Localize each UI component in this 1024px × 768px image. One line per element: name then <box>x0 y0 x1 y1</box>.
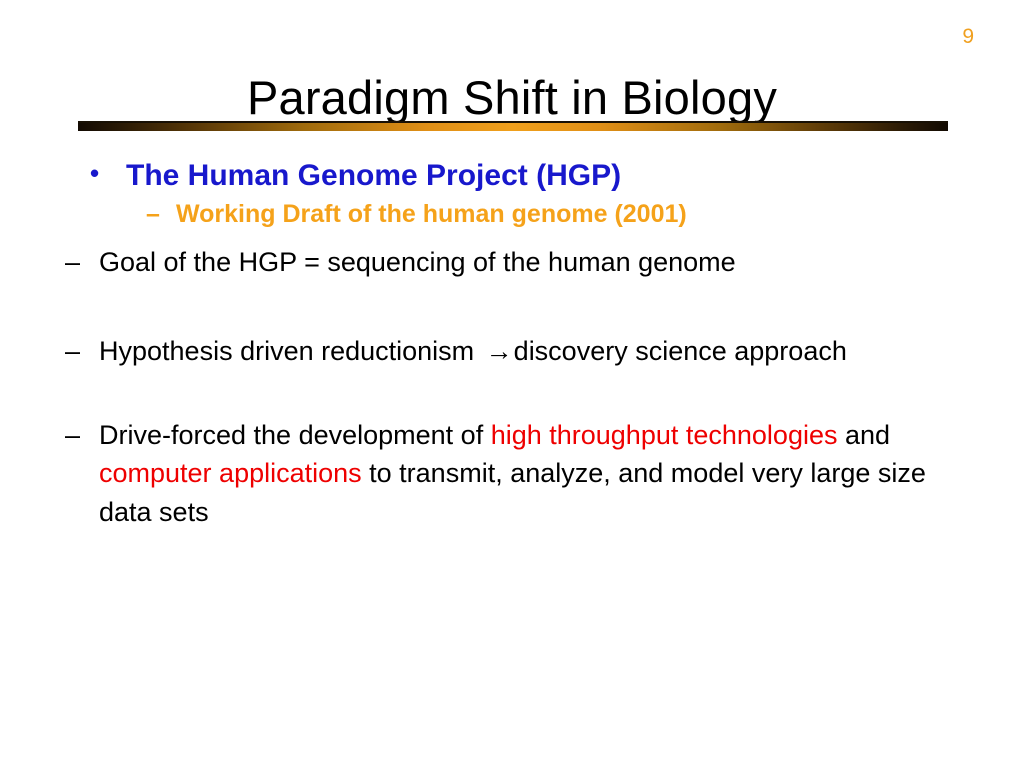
drive-forced-segment-1: Drive-forced the development of <box>99 420 491 450</box>
bullet-goal-of-hgp: – Goal of the HGP = sequencing of the hu… <box>0 243 1024 281</box>
spacer <box>0 370 1024 416</box>
bullet-level2-working-draft: – Working Draft of the human genome (200… <box>0 199 1024 229</box>
bullet-dot-icon: • <box>90 158 126 190</box>
bullet-drive-forced-development: – Drive-forced the development of high t… <box>0 416 1024 531</box>
highlight-computer-applications: computer applications <box>99 458 362 488</box>
bullet-hypothesis-driven-reductionism: – Hypothesis driven reductionism →discov… <box>0 332 1024 370</box>
dash-marker-icon: – <box>65 416 99 454</box>
spacer <box>0 282 1024 332</box>
bullet-level1-human-genome-project: • The Human Genome Project (HGP) <box>0 158 1024 193</box>
hypothesis-text-part1: Hypothesis driven reductionism <box>99 336 482 366</box>
highlight-high-throughput-technologies: high throughput technologies <box>491 420 838 450</box>
bullet-hypothesis-label: Hypothesis driven reductionism →discover… <box>99 332 939 370</box>
page-number: 9 <box>962 26 974 47</box>
drive-forced-segment-3: and <box>837 420 890 450</box>
dash-marker-icon: – <box>65 243 99 281</box>
bullet-level2-label: Working Draft of the human genome (2001) <box>176 199 1024 229</box>
bullet-goal-of-hgp-label: Goal of the HGP = sequencing of the huma… <box>99 243 939 281</box>
hypothesis-text-part2: discovery science approach <box>514 336 847 366</box>
dash-marker-icon: – <box>65 332 99 370</box>
bullet-drive-forced-label: Drive-forced the development of high thr… <box>99 416 939 531</box>
title-divider-rule <box>78 121 948 131</box>
page-title: Paradigm Shift in Biology <box>0 73 1024 122</box>
dash-marker-icon: – <box>146 199 176 229</box>
slide-body: • The Human Genome Project (HGP) – Worki… <box>0 158 1024 531</box>
presentation-slide: 9 Paradigm Shift in Biology • The Human … <box>0 0 1024 768</box>
right-arrow-icon: → <box>482 336 514 366</box>
bullet-level1-label: The Human Genome Project (HGP) <box>126 158 1024 193</box>
